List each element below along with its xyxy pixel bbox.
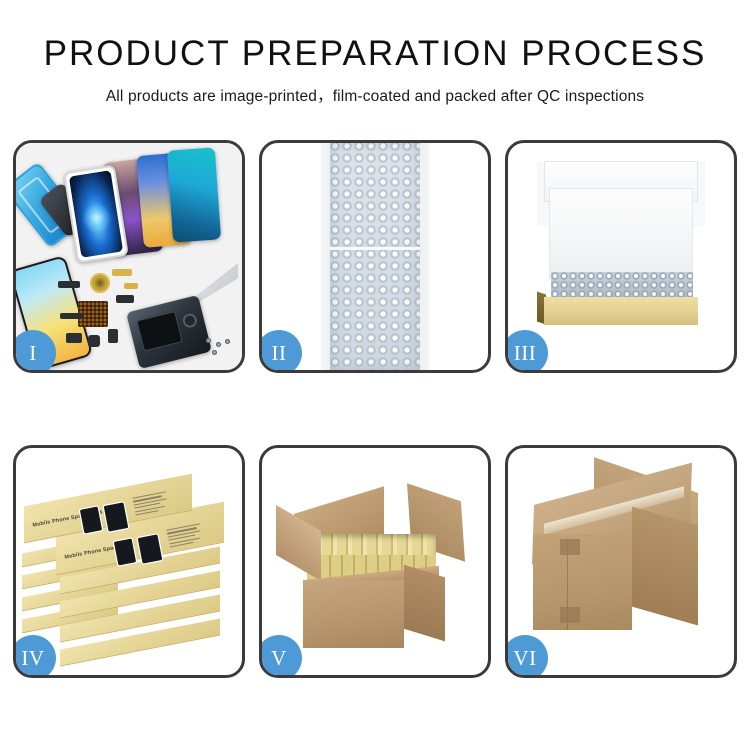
header: PRODUCT PREPARATION PROCESS All products… [0, 0, 750, 106]
small-part-chip [66, 333, 82, 343]
process-step-panel-1: I [13, 140, 245, 373]
process-step-panel-3: III [505, 140, 737, 373]
carton-front-panel [303, 580, 405, 648]
bubble-wrap-seam [330, 247, 420, 250]
step-1-image [16, 143, 242, 370]
step-badge-1: I [13, 330, 56, 373]
phone-teal [167, 147, 221, 242]
screws-group [206, 338, 232, 356]
step-badge-3: III [505, 330, 548, 373]
step-badge-6: VI [505, 635, 548, 678]
small-part-chip [116, 295, 134, 303]
carton-side-right [632, 507, 698, 626]
step-badge-4: IV [13, 635, 56, 678]
page-title: PRODUCT PREPARATION PROCESS [0, 34, 750, 74]
box-lid [549, 188, 694, 279]
carton-notch [560, 607, 580, 623]
step-badge-2: II [259, 330, 302, 373]
step-2-image [262, 143, 488, 370]
step-4-image: Mobile Phone Spare Parts Mobile Phone Sp… [16, 448, 242, 675]
process-step-grid: I II III [13, 140, 737, 700]
box-front-panel [544, 297, 698, 324]
carton-front-panel [533, 534, 632, 629]
step-badge-5: V [259, 635, 302, 678]
process-step-panel-4: Mobile Phone Spare Parts Mobile Phone Sp… [13, 445, 245, 678]
step-3-image [508, 143, 734, 370]
flex-cable-part [112, 269, 132, 276]
carton-side-right [404, 564, 445, 640]
product-preparation-infographic: PRODUCT PREPARATION PROCESS All products… [0, 0, 750, 750]
process-step-panel-2: II [259, 140, 491, 373]
bubble-wrapped-contents [551, 272, 693, 299]
process-step-panel-6: VI [505, 445, 737, 678]
process-step-panel-5: V [259, 445, 491, 678]
flex-cable-part [124, 283, 138, 289]
bubble-wrap [330, 143, 420, 370]
small-part-chip [88, 335, 100, 347]
small-part-chip [60, 313, 84, 319]
small-part-chip [58, 281, 80, 288]
step-6-image [508, 448, 734, 675]
small-part-chip [108, 329, 118, 343]
speaker-coil-part [90, 273, 110, 293]
page-subtitle: All products are image-printed，film-coat… [0, 84, 750, 106]
carton-notch [560, 539, 580, 555]
step-5-image [262, 448, 488, 675]
